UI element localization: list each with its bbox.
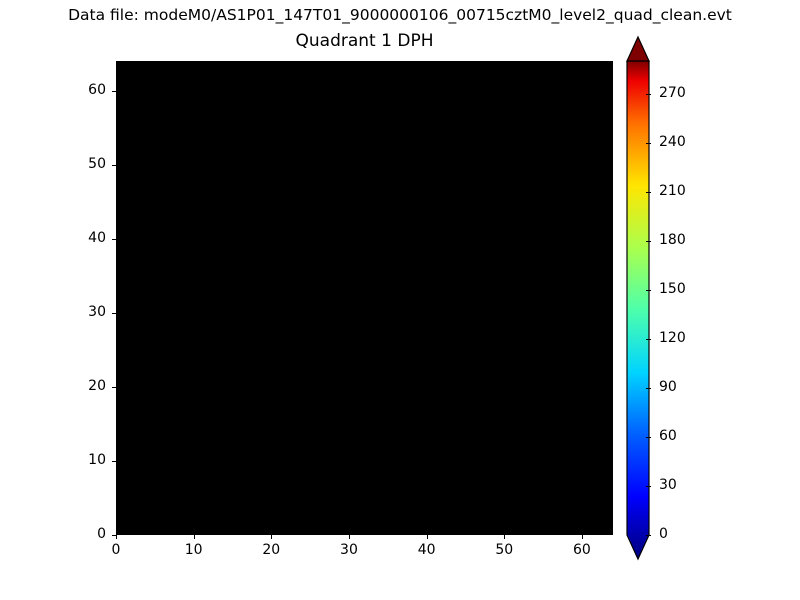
y-tick-label: 20	[66, 378, 106, 394]
x-tick-label: 60	[562, 542, 602, 558]
y-tick-mark	[112, 387, 116, 388]
y-tick-label: 50	[66, 156, 106, 172]
x-tick-label: 20	[251, 542, 291, 558]
colorbar: 0306090120150180210240270	[625, 61, 651, 535]
y-tick-mark	[112, 165, 116, 166]
y-tick-mark	[112, 239, 116, 240]
colorbar-tick-mark	[646, 241, 651, 242]
y-tick-label: 40	[66, 230, 106, 246]
heatmap-axes	[116, 61, 613, 535]
colorbar-tick-mark	[646, 388, 651, 389]
x-tick-label: 10	[174, 542, 214, 558]
colorbar-tick-mark	[646, 339, 651, 340]
colorbar-tick-mark	[646, 192, 651, 193]
y-tick-mark	[112, 535, 116, 536]
colorbar-tick-label: 180	[659, 232, 686, 248]
x-tick-label: 50	[484, 542, 524, 558]
y-tick-mark	[112, 313, 116, 314]
x-tick-mark	[194, 535, 195, 539]
y-tick-label: 30	[66, 304, 106, 320]
y-tick-label: 0	[66, 526, 106, 542]
colorbar-tick-label: 270	[659, 85, 686, 101]
colorbar-tick-label: 90	[659, 379, 677, 395]
detector-heatmap-image	[117, 62, 612, 534]
matplotlib-figure: Data file: modeM0/AS1P01_147T01_90000001…	[0, 0, 800, 600]
colorbar-tick-mark	[646, 437, 651, 438]
x-tick-mark	[116, 535, 117, 539]
data-file-suptitle: Data file: modeM0/AS1P01_147T01_90000001…	[0, 6, 800, 24]
colorbar-tick-mark	[646, 143, 651, 144]
colorbar-tick-label: 240	[659, 134, 686, 150]
y-tick-mark	[112, 91, 116, 92]
colorbar-tick-label: 210	[659, 183, 686, 199]
x-tick-mark	[504, 535, 505, 539]
colorbar-tick-mark	[646, 486, 651, 487]
x-tick-label: 40	[407, 542, 447, 558]
x-tick-label: 0	[96, 542, 136, 558]
y-tick-mark	[112, 461, 116, 462]
colorbar-tick-mark	[646, 290, 651, 291]
colorbar-tick-label: 0	[659, 526, 668, 542]
y-tick-label: 60	[66, 82, 106, 98]
colorbar-tick-label: 60	[659, 428, 677, 444]
colorbar-tick-label: 120	[659, 330, 686, 346]
plot-title: Quadrant 1 DPH	[116, 31, 613, 51]
colorbar-tick-label: 150	[659, 281, 686, 297]
colorbar-tick-label: 30	[659, 477, 677, 493]
x-tick-mark	[349, 535, 350, 539]
x-tick-mark	[582, 535, 583, 539]
x-tick-mark	[271, 535, 272, 539]
y-tick-label: 10	[66, 452, 106, 468]
x-tick-mark	[427, 535, 428, 539]
colorbar-tick-mark	[646, 94, 651, 95]
x-tick-label: 30	[329, 542, 369, 558]
colorbar-tick-mark	[646, 535, 651, 536]
colorbar-gradient	[623, 35, 653, 561]
